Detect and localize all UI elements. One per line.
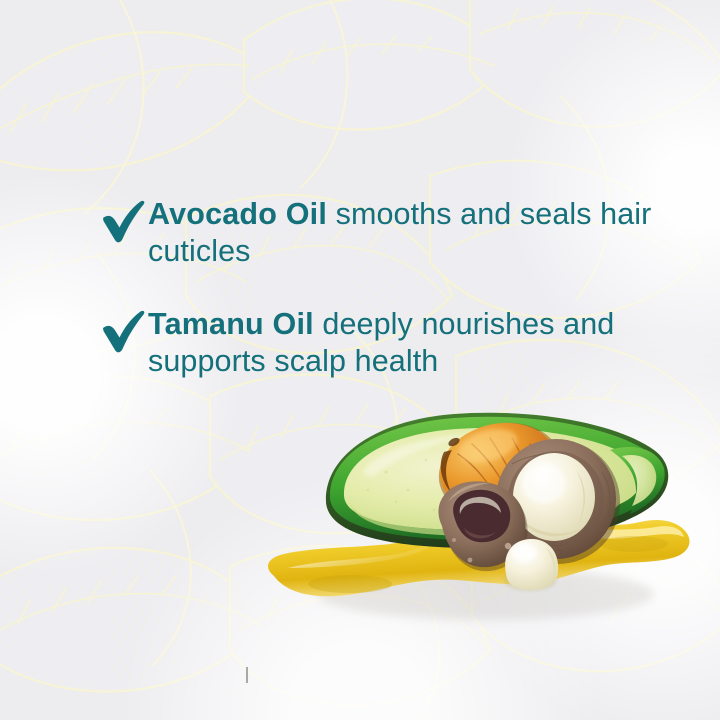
list-item-lead: Tamanu Oil (148, 307, 314, 341)
checkmark-icon (100, 310, 148, 354)
list-item-lead: Avocado Oil (148, 197, 327, 231)
list-item-text: Tamanu Oil deeply nourishes and supports… (100, 306, 660, 380)
list-item: Tamanu Oil deeply nourishes and supports… (100, 306, 660, 380)
macadamia-kernel-small (504, 539, 558, 590)
list-item: Avocado Oil smooths and seals hair cutic… (100, 196, 660, 270)
benefit-list: Avocado Oil smooths and seals hair cutic… (100, 196, 660, 416)
avocado-macadamia-illustration (258, 398, 706, 648)
checkmark-icon (100, 200, 148, 244)
promo-canvas: Avocado Oil smooths and seals hair cutic… (0, 0, 720, 720)
product-image (258, 398, 706, 648)
bottom-tick-mark (246, 667, 248, 683)
list-item-text: Avocado Oil smooths and seals hair cutic… (100, 196, 660, 270)
